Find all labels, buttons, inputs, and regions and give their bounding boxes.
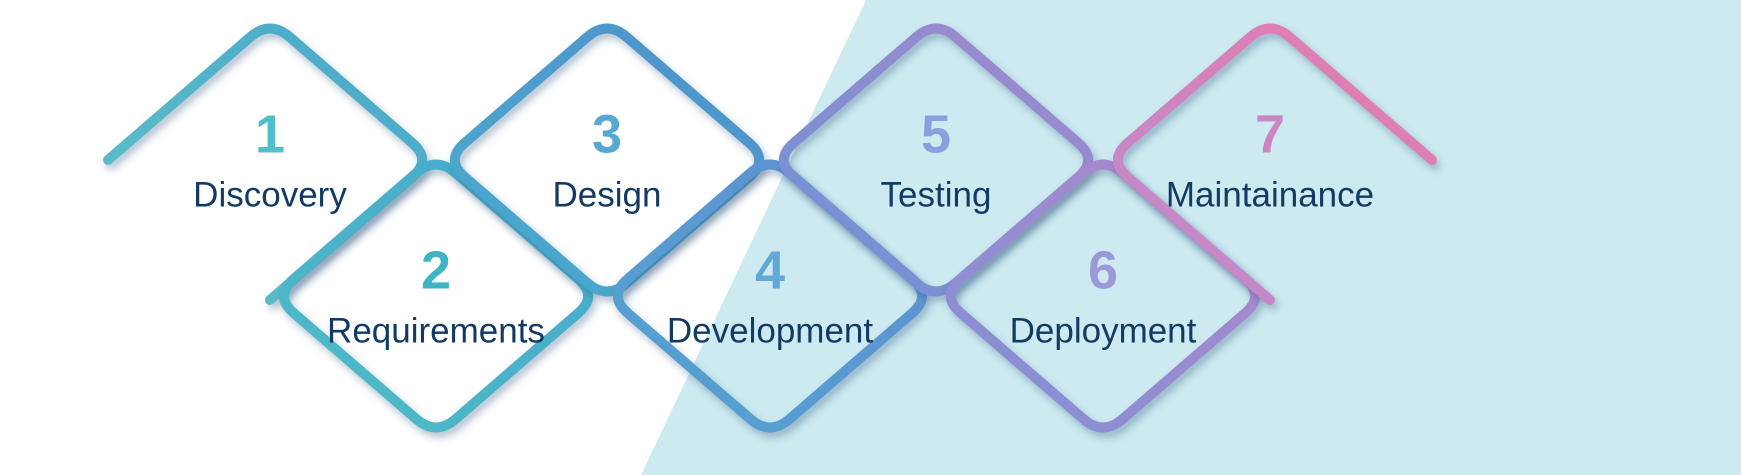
step-number-2: 2 [327, 244, 545, 298]
diagram-canvas: 1 Discovery 2 Requirements 3 Design 4 De… [0, 0, 1741, 475]
step-node-5[interactable]: 5 Testing [881, 108, 992, 213]
diamond-chain [0, 0, 1741, 475]
step-number-4: 4 [667, 244, 873, 298]
step-label-7: Maintainance [1166, 178, 1374, 213]
step-label-1: Discovery [193, 178, 347, 213]
step-label-5: Testing [881, 178, 992, 213]
step-node-2[interactable]: 2 Requirements [327, 244, 545, 349]
step-label-3: Design [553, 178, 662, 213]
step-node-7[interactable]: 7 Maintainance [1166, 108, 1374, 213]
step-node-4[interactable]: 4 Development [667, 244, 873, 349]
step-label-2: Requirements [327, 314, 545, 349]
step-number-3: 3 [553, 108, 662, 162]
step-label-6: Deployment [1010, 314, 1197, 349]
step-number-5: 5 [881, 108, 992, 162]
step-number-1: 1 [193, 108, 347, 162]
step-node-3[interactable]: 3 Design [553, 108, 662, 213]
step-label-4: Development [667, 314, 873, 349]
step-node-1[interactable]: 1 Discovery [193, 108, 347, 213]
step-number-6: 6 [1010, 244, 1197, 298]
step-node-6[interactable]: 6 Deployment [1010, 244, 1197, 349]
step-number-7: 7 [1166, 108, 1374, 162]
